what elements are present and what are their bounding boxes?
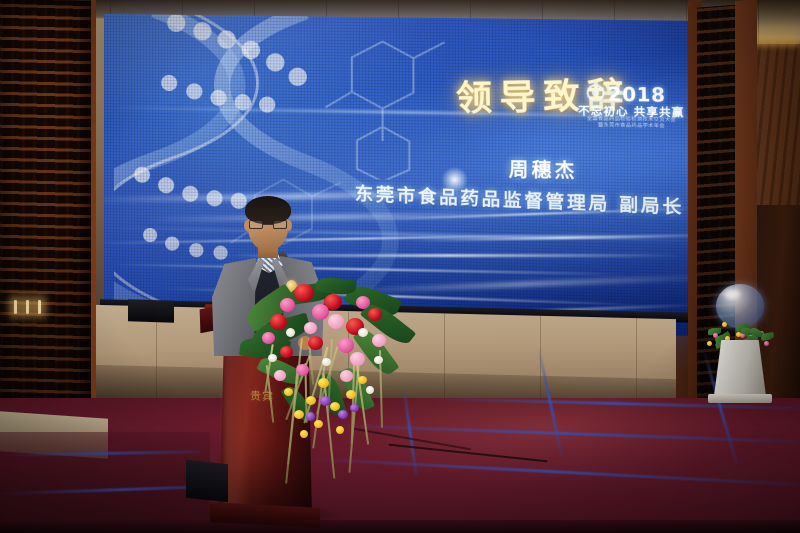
podium-step-box bbox=[186, 460, 228, 502]
wall-sconce-light-2 bbox=[26, 300, 29, 314]
flower-bloom bbox=[328, 314, 344, 329]
flower-bloom bbox=[274, 370, 286, 381]
flower-bloom bbox=[340, 370, 353, 382]
flower-bloom bbox=[268, 354, 277, 362]
flower-bloom bbox=[308, 336, 323, 350]
flower-bloom bbox=[358, 376, 367, 384]
vase-base bbox=[708, 394, 772, 403]
flower-bloom bbox=[294, 410, 304, 419]
flower-bloom bbox=[286, 328, 295, 337]
flower-bloom bbox=[350, 352, 365, 366]
flower-bloom bbox=[306, 412, 315, 421]
flower-bloom bbox=[284, 388, 293, 396]
flower-bloom bbox=[707, 341, 712, 346]
lens-left bbox=[249, 220, 263, 229]
flower-bloom bbox=[320, 396, 331, 406]
flower-bloom bbox=[262, 332, 275, 344]
flower-bloom bbox=[294, 284, 314, 302]
conference-stage-photo: 领导致辞 周穗杰 东莞市食品药品监督管理局 副局长 2018 不忘初心 共享共赢… bbox=[0, 0, 800, 533]
flower-bloom bbox=[368, 308, 382, 321]
flower-bloom bbox=[346, 390, 356, 399]
flower-bloom bbox=[306, 396, 316, 405]
flower-bloom bbox=[336, 426, 344, 434]
eyeglasses-icon bbox=[249, 220, 287, 229]
flower-bloom bbox=[312, 304, 329, 320]
flower-bloom bbox=[322, 358, 331, 366]
flower-bloom bbox=[764, 341, 769, 346]
stage-front-edge bbox=[0, 520, 800, 533]
flower-bloom bbox=[356, 296, 370, 309]
glasses-bridge bbox=[263, 224, 273, 225]
flower-bloom bbox=[358, 328, 368, 337]
flower-bloom bbox=[338, 410, 348, 419]
floor-speaker-box bbox=[128, 299, 174, 323]
wall-sconce-light-3 bbox=[38, 300, 41, 314]
flower-bloom bbox=[722, 322, 727, 327]
stage-lower-left-section bbox=[0, 432, 210, 533]
lens-right bbox=[273, 220, 287, 229]
podium-bouquet bbox=[250, 278, 415, 493]
globe-highlight bbox=[724, 289, 740, 299]
flower-bloom bbox=[330, 402, 340, 411]
flower-bloom bbox=[314, 420, 323, 428]
flower-bloom bbox=[300, 430, 308, 438]
flower-bloom bbox=[296, 364, 309, 376]
flower-bloom bbox=[318, 378, 329, 388]
flower-bloom bbox=[280, 346, 293, 358]
flower-bloom bbox=[304, 322, 317, 334]
flower-bloom bbox=[280, 298, 295, 312]
wall-sconce-light bbox=[14, 300, 17, 314]
white-vase bbox=[714, 340, 766, 396]
flower-bloom bbox=[270, 314, 287, 330]
flower-bloom bbox=[350, 404, 359, 412]
flower-bloom bbox=[338, 338, 354, 353]
flower-bloom bbox=[374, 356, 383, 364]
flower-bloom bbox=[366, 386, 374, 394]
side-flower-arrangement bbox=[700, 282, 782, 414]
flower-bloom bbox=[372, 334, 386, 347]
